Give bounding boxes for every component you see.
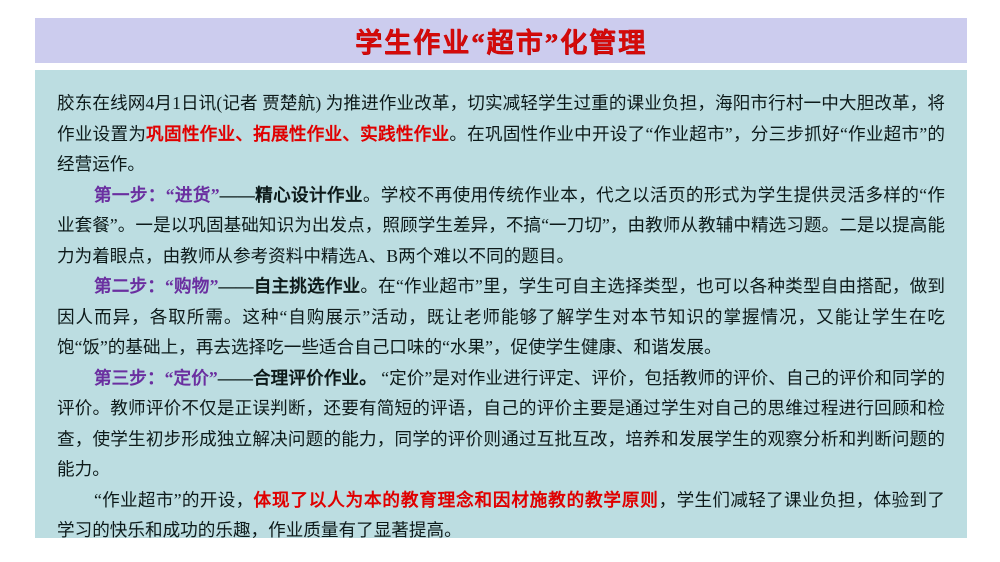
text-run-purple: 第一步：“进货”	[94, 185, 220, 205]
slide-root: 学生作业“超市”化管理 胶东在线网4月1日讯(记者 贾楚航) 为推进作业改革，切…	[0, 0, 1000, 562]
text-run-strong: ——合理评价作业。	[218, 368, 377, 388]
text-run-purple: 第三步：“定价”	[94, 368, 218, 388]
text-run-red: 巩固性作业、拓展性作业、实践性作业	[146, 124, 449, 144]
paragraph-step-3: 第三步：“定价”——合理评价作业。 “定价”是对作业进行评定、评价，包括教师的评…	[57, 363, 945, 485]
paragraph-lead: 胶东在线网4月1日讯(记者 贾楚航) 为推进作业改革，切实减轻学生过重的课业负担…	[57, 88, 945, 180]
content-panel: 胶东在线网4月1日讯(记者 贾楚航) 为推进作业改革，切实减轻学生过重的课业负担…	[35, 70, 967, 538]
text-run-red-em: 体现了以人为本的教育理念和因材施教的教学原则	[254, 490, 659, 510]
paragraph-step-2: 第二步：“购物”——自主挑选作业。在“作业超市”里，学生可自主选择类型，也可以各…	[57, 271, 945, 363]
text-run-purple: 第二步：“购物”	[94, 276, 218, 296]
text-run-strong: ——精心设计作业	[220, 185, 363, 205]
paragraph-conclusion: “作业超市”的开设，体现了以人为本的教育理念和因材施教的教学原则，学生们减轻了课…	[57, 485, 945, 546]
text-run-strong: ——自主挑选作业	[218, 276, 360, 296]
paragraph-container: 胶东在线网4月1日讯(记者 贾楚航) 为推进作业改革，切实减轻学生过重的课业负担…	[57, 88, 945, 546]
title-band: 学生作业“超市”化管理	[35, 18, 967, 63]
paragraph-step-1: 第一步：“进货”——精心设计作业。学校不再使用传统作业本，代之以活页的形式为学生…	[57, 180, 945, 272]
text-run-normal: “作业超市”的开设，	[94, 490, 254, 510]
page-title: 学生作业“超市”化管理	[355, 21, 647, 60]
